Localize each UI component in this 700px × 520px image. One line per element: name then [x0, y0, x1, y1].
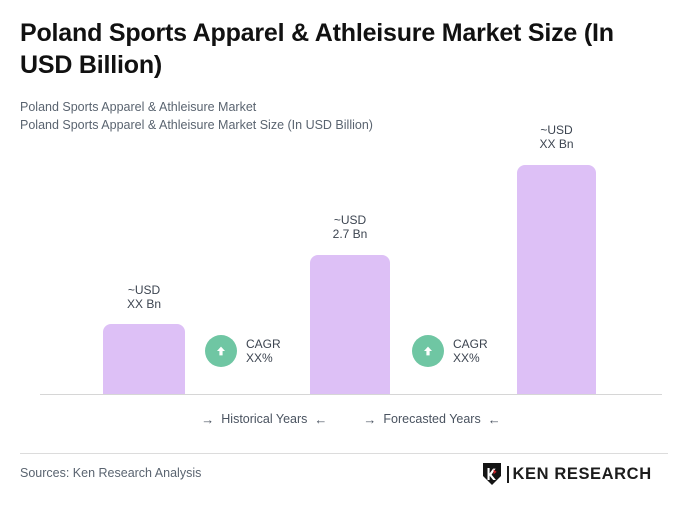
arrow-left-icon: ← [488, 413, 501, 426]
bar-label-value: XX Bn [103, 297, 185, 311]
period-forecasted-label: Forecasted Years [383, 412, 480, 426]
period-historical-label: Historical Years [221, 412, 307, 426]
plot-area: ~USD XX Bn ~USD 2.7 Bn ~USD XX Bn CAGR X… [0, 0, 700, 520]
bar-forecast [517, 165, 596, 394]
period-historical: → Historical Years ← [201, 412, 327, 426]
x-axis-line [40, 394, 662, 395]
arrow-right-icon: → [363, 413, 376, 426]
bar-label-prefix: ~USD [517, 123, 596, 137]
bar-label-value: 2.7 Bn [310, 227, 390, 241]
footer-divider [20, 453, 668, 454]
bar-label-prefix: ~USD [310, 213, 390, 227]
cagr-label: CAGR [453, 337, 488, 351]
bar-label-historical: ~USD XX Bn [103, 283, 185, 311]
chart-page: Poland Sports Apparel & Athleisure Marke… [0, 0, 700, 520]
arrow-up-icon [205, 335, 237, 367]
bar-label-current: ~USD 2.7 Bn [310, 213, 390, 241]
logo-text: KEN RESEARCH [513, 466, 652, 483]
bar-label-prefix: ~USD [103, 283, 185, 297]
arrow-right-icon: → [201, 413, 214, 426]
logo-divider [507, 466, 509, 483]
bar-current [310, 255, 390, 394]
period-forecasted: → Forecasted Years ← [363, 412, 500, 426]
shield-icon [482, 462, 502, 486]
bar-label-forecast: ~USD XX Bn [517, 123, 596, 151]
ken-research-logo: KEN RESEARCH [482, 462, 652, 486]
cagr-badge-forecast: CAGR XX% [412, 335, 488, 367]
bar-historical [103, 324, 185, 394]
logo-wordmark: KEN RESEARCH [507, 466, 652, 483]
cagr-value: XX% [246, 351, 281, 365]
arrow-up-icon [412, 335, 444, 367]
arrow-left-icon: ← [314, 413, 327, 426]
cagr-text: CAGR XX% [246, 337, 281, 365]
cagr-text: CAGR XX% [453, 337, 488, 365]
cagr-label: CAGR [246, 337, 281, 351]
cagr-badge-historical: CAGR XX% [205, 335, 281, 367]
cagr-value: XX% [453, 351, 488, 365]
bar-label-value: XX Bn [517, 137, 596, 151]
period-legend: → Historical Years ← → Forecasted Years … [40, 409, 662, 429]
sources-text: Sources: Ken Research Analysis [20, 466, 201, 480]
